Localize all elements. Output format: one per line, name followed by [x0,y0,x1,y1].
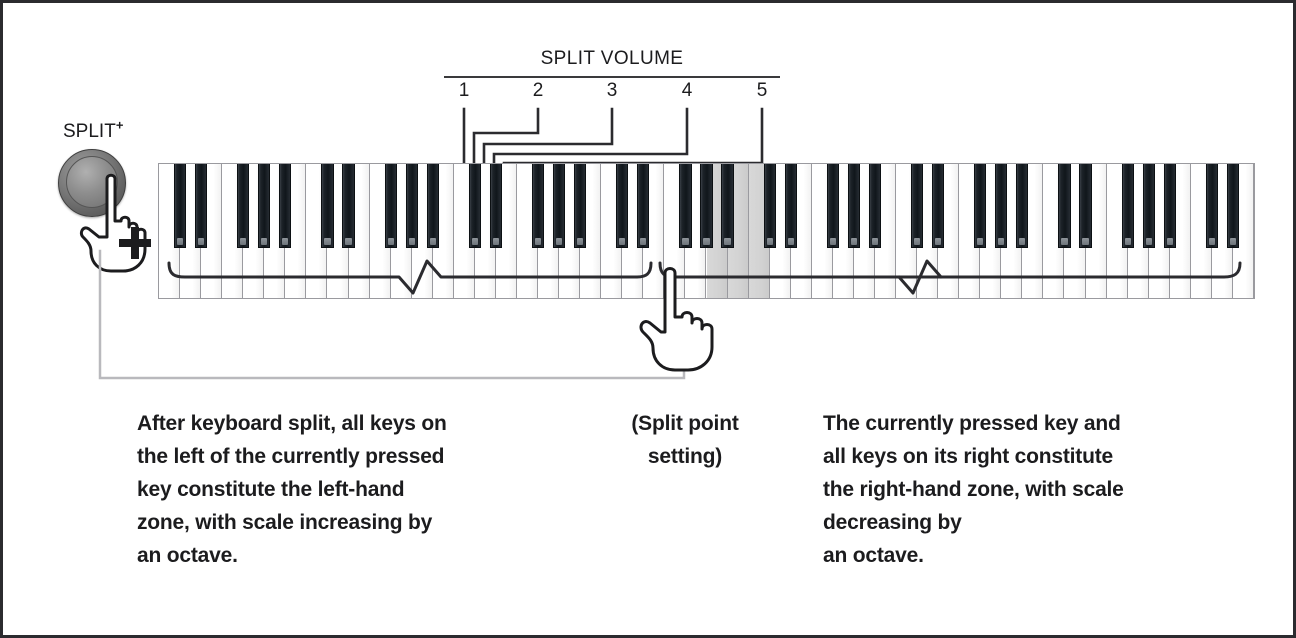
black-key[interactable] [721,164,733,248]
black-key[interactable] [637,164,649,248]
split-volume-level-3: 3 [600,80,624,102]
black-key[interactable] [195,164,207,248]
figure-root: SPLIT VOLUME 1 2 3 4 5 SPLIT+ [0,0,1296,638]
caption-left-line-4: zone, with scale increasing by [137,506,557,539]
split-volume-level-5: 5 [750,80,774,102]
split-volume-title: SPLIT VOLUME [444,48,780,70]
caption-left-line-2: the left of the currently pressed [137,440,557,473]
caption-left-line-3: key constitute the left-hand [137,473,557,506]
caption-right-line-1: The currently pressed key and [823,407,1243,440]
caption-right-line-4: decreasing by [823,506,1243,539]
split-button-superscript: + [116,118,124,133]
black-key[interactable] [174,164,186,248]
caption-mid-line-2: setting) [595,440,775,473]
black-key[interactable] [279,164,291,248]
split-volume-scale: SPLIT VOLUME 1 2 3 4 5 [444,48,780,108]
black-key[interactable] [1058,164,1070,248]
black-key[interactable] [785,164,797,248]
black-key[interactable] [490,164,502,248]
black-key[interactable] [469,164,481,248]
black-key[interactable] [406,164,418,248]
black-key[interactable] [869,164,881,248]
caption-left-line-5: an octave. [137,539,557,572]
caption-mid-line-1: (Split point [595,407,775,440]
split-button-label-text: SPLIT [63,121,116,142]
black-key[interactable] [1016,164,1028,248]
leader-line-4 [494,109,687,165]
caption-left-line-1: After keyboard split, all keys on [137,407,557,440]
caption-left-hand-zone: After keyboard split, all keys on the le… [137,407,557,572]
black-key[interactable] [574,164,586,248]
piano-keyboard[interactable] [158,163,1255,299]
black-key[interactable] [237,164,249,248]
black-key[interactable] [932,164,944,248]
caption-right-line-2: all keys on its right constitute [823,440,1243,473]
black-key[interactable] [553,164,565,248]
black-key[interactable] [532,164,544,248]
black-key[interactable] [385,164,397,248]
leader-line-3 [484,109,612,165]
black-key[interactable] [1206,164,1218,248]
caption-right-hand-zone: The currently pressed key and all keys o… [823,407,1243,572]
black-key[interactable] [1227,164,1239,248]
black-key[interactable] [1079,164,1091,248]
split-button-block: SPLIT+ [43,121,173,281]
black-key[interactable] [679,164,691,248]
black-key[interactable] [995,164,1007,248]
black-key[interactable] [974,164,986,248]
split-volume-level-2: 2 [526,80,550,102]
split-volume-rule [444,76,780,78]
black-key[interactable] [827,164,839,248]
split-volume-level-1: 1 [452,80,476,102]
leader-line-5 [504,109,762,165]
black-key[interactable] [321,164,333,248]
black-key[interactable] [848,164,860,248]
black-key[interactable] [258,164,270,248]
split-volume-level-4: 4 [675,80,699,102]
black-key[interactable] [342,164,354,248]
caption-split-point: (Split point setting) [595,407,775,473]
caption-right-line-3: the right-hand zone, with scale [823,473,1243,506]
black-key[interactable] [700,164,712,248]
black-key[interactable] [764,164,776,248]
black-key[interactable] [427,164,439,248]
black-key[interactable] [1143,164,1155,248]
black-key[interactable] [911,164,923,248]
caption-right-line-5: an octave. [823,539,1243,572]
black-key[interactable] [616,164,628,248]
split-button-label: SPLIT+ [63,121,123,143]
black-key[interactable] [1164,164,1176,248]
black-key[interactable] [1122,164,1134,248]
leader-line-2 [474,109,538,165]
